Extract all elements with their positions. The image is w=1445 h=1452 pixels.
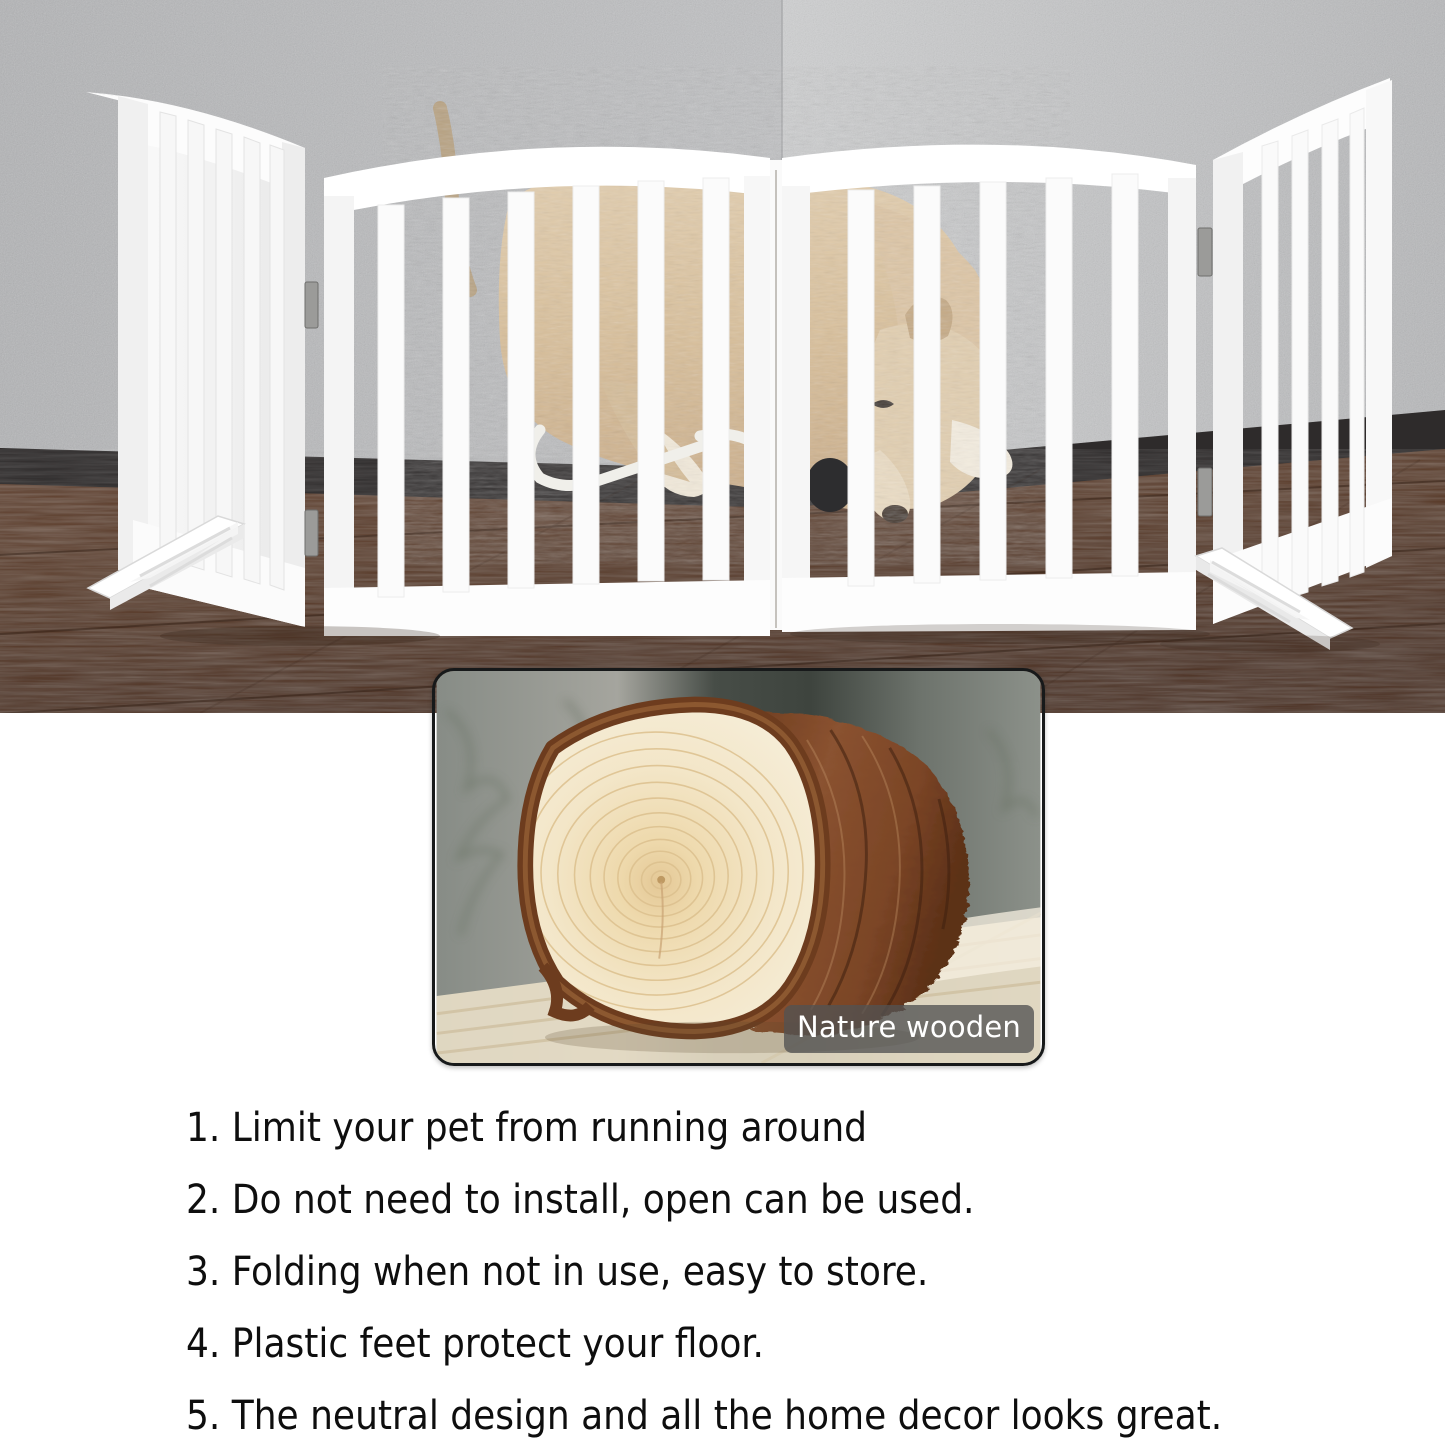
inset-caption-badge: Nature wooden <box>784 1005 1034 1053</box>
hinge-icon <box>1198 468 1212 516</box>
nature-wooden-inset: Nature wooden <box>432 668 1045 1066</box>
hinge-icon <box>305 282 318 328</box>
dog-nose <box>882 505 908 523</box>
feature-item-1: 1. Limit your pet from running around <box>186 1092 1386 1164</box>
feature-item-3: 3. Folding when not in use, easy to stor… <box>186 1236 1386 1308</box>
black-rubber-piece <box>806 458 854 512</box>
feature-item-4: 4. Plastic feet protect your floor. <box>186 1308 1386 1380</box>
hinge-icon <box>1198 228 1212 276</box>
feature-item-5: 5. The neutral design and all the home d… <box>186 1380 1386 1452</box>
hinge-icon <box>305 510 318 556</box>
feature-list: 1. Limit your pet from running around 2.… <box>186 1092 1386 1452</box>
feature-item-2: 2. Do not need to install, open can be u… <box>186 1164 1386 1236</box>
hero-scene <box>0 0 1445 713</box>
product-hero-image <box>0 0 1445 713</box>
